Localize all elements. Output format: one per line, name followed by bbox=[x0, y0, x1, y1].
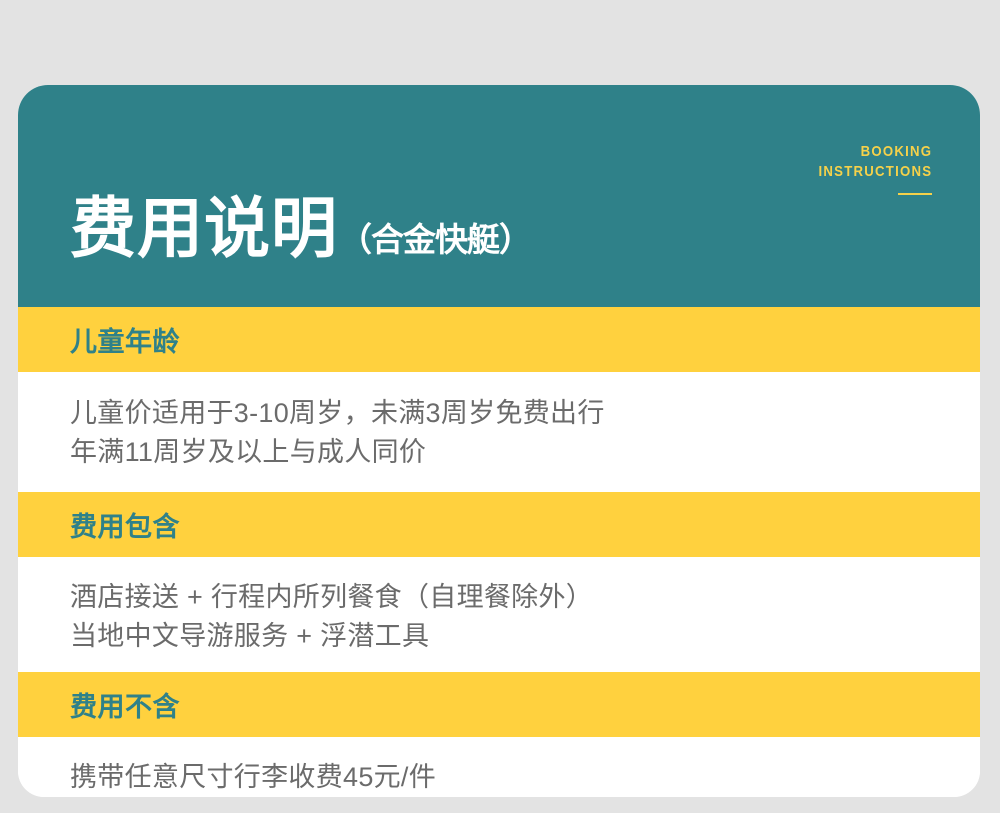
section-header-children-age: 儿童年龄 bbox=[18, 307, 980, 372]
card-header: BOOKING INSTRUCTIONS 费用说明 （合金快艇） bbox=[18, 85, 980, 307]
booking-instructions-card: BOOKING INSTRUCTIONS 费用说明 （合金快艇） 儿童年龄 儿童… bbox=[18, 85, 980, 797]
eyebrow-block: BOOKING INSTRUCTIONS bbox=[803, 142, 932, 195]
body-line: 小费和其它个人费用 bbox=[70, 796, 928, 797]
section-header-fee-included: 费用包含 bbox=[18, 492, 980, 557]
eyebrow-line-1: BOOKING bbox=[818, 142, 932, 162]
body-line: 携带任意尺寸行李收费45元/件 bbox=[70, 758, 928, 797]
section-title: 儿童年龄 bbox=[70, 320, 180, 359]
body-line: 儿童价适用于3-10周岁，未满3周岁免费出行 bbox=[70, 394, 928, 433]
section-title: 费用不含 bbox=[70, 685, 180, 724]
page-title: 费用说明 （合金快艇） bbox=[70, 195, 531, 261]
body-line: 当地中文导游服务 + 浮潜工具 bbox=[70, 617, 928, 656]
section-title: 费用包含 bbox=[70, 505, 180, 544]
body-line: 酒店接送 + 行程内所列餐食（自理餐除外） bbox=[70, 578, 928, 617]
eyebrow-underline bbox=[898, 193, 932, 195]
body-line: 年满11周岁及以上与成人同价 bbox=[70, 433, 928, 472]
page-root: BOOKING INSTRUCTIONS 费用说明 （合金快艇） 儿童年龄 儿童… bbox=[0, 0, 1000, 813]
page-title-sub: （合金快艇） bbox=[339, 223, 531, 256]
eyebrow-line-2: INSTRUCTIONS bbox=[818, 162, 932, 182]
page-title-main: 费用说明 bbox=[70, 195, 338, 261]
section-body-fee-included: 酒店接送 + 行程内所列餐食（自理餐除外） 当地中文导游服务 + 浮潜工具 bbox=[18, 557, 980, 672]
section-body-children-age: 儿童价适用于3-10周岁，未满3周岁免费出行 年满11周岁及以上与成人同价 bbox=[18, 372, 980, 492]
section-body-fee-excluded: 携带任意尺寸行李收费45元/件 小费和其它个人费用 bbox=[18, 737, 980, 798]
section-header-fee-excluded: 费用不含 bbox=[18, 672, 980, 737]
